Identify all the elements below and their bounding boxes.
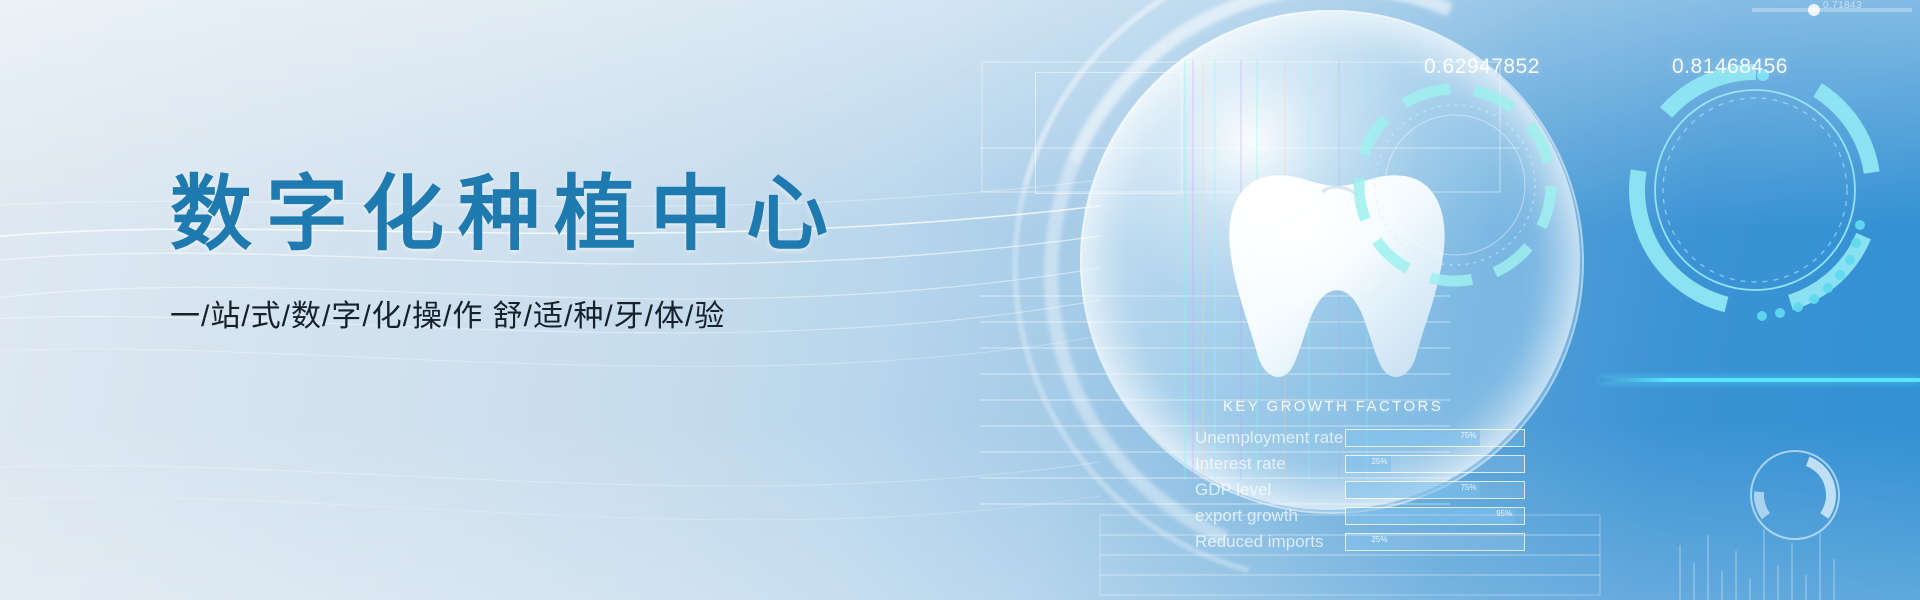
chart-row: Interest rate 25%: [1195, 452, 1525, 475]
chart-bar-track: 25%: [1345, 455, 1525, 473]
chart-bar-fill: [1346, 430, 1480, 446]
chart-bar-track: 75%: [1345, 429, 1525, 447]
hero-text-block: 数字化种植中心 一/站/式/数/字/化/操/作 舒/适/种/牙/体/验: [170, 168, 842, 335]
page-title: 数字化种植中心: [170, 168, 842, 261]
chart-bar-value: 75%: [1460, 483, 1479, 492]
chart-bar-fill: [1346, 482, 1480, 498]
hud-dashed-ring: [1350, 80, 1560, 290]
hud-right-ring: [1620, 55, 1890, 325]
chart-category-label: Interest rate: [1195, 454, 1345, 473]
cyan-accent-line: [1600, 378, 1920, 382]
chart-row: Unemployment rate 75%: [1195, 426, 1525, 449]
hud-readout-left: 0.62947852: [1424, 55, 1540, 79]
chart-category-label: GDP level: [1195, 480, 1345, 499]
chart-title: KEY GROWTH FACTORS: [1223, 398, 1525, 415]
hud-readout-right: 0.81468456: [1672, 55, 1788, 79]
hud-slider-value: 0.71843: [1823, 0, 1862, 11]
chart-bar-value: 25%: [1371, 457, 1390, 466]
chart-bar-track: 75%: [1345, 481, 1525, 499]
dental-hero-banner: 0.62947852 0.81468456 0.71843 KEY GROWTH…: [0, 0, 1920, 600]
chart-category-label: Unemployment rate: [1195, 428, 1345, 447]
chart-bar-value: 75%: [1460, 431, 1479, 440]
bottom-circuit-decoration: [1080, 505, 1920, 600]
chart-row: GDP level 75%: [1195, 478, 1525, 501]
page-subtitle: 一/站/式/数/字/化/操/作 舒/适/种/牙/体/验: [170, 291, 842, 335]
